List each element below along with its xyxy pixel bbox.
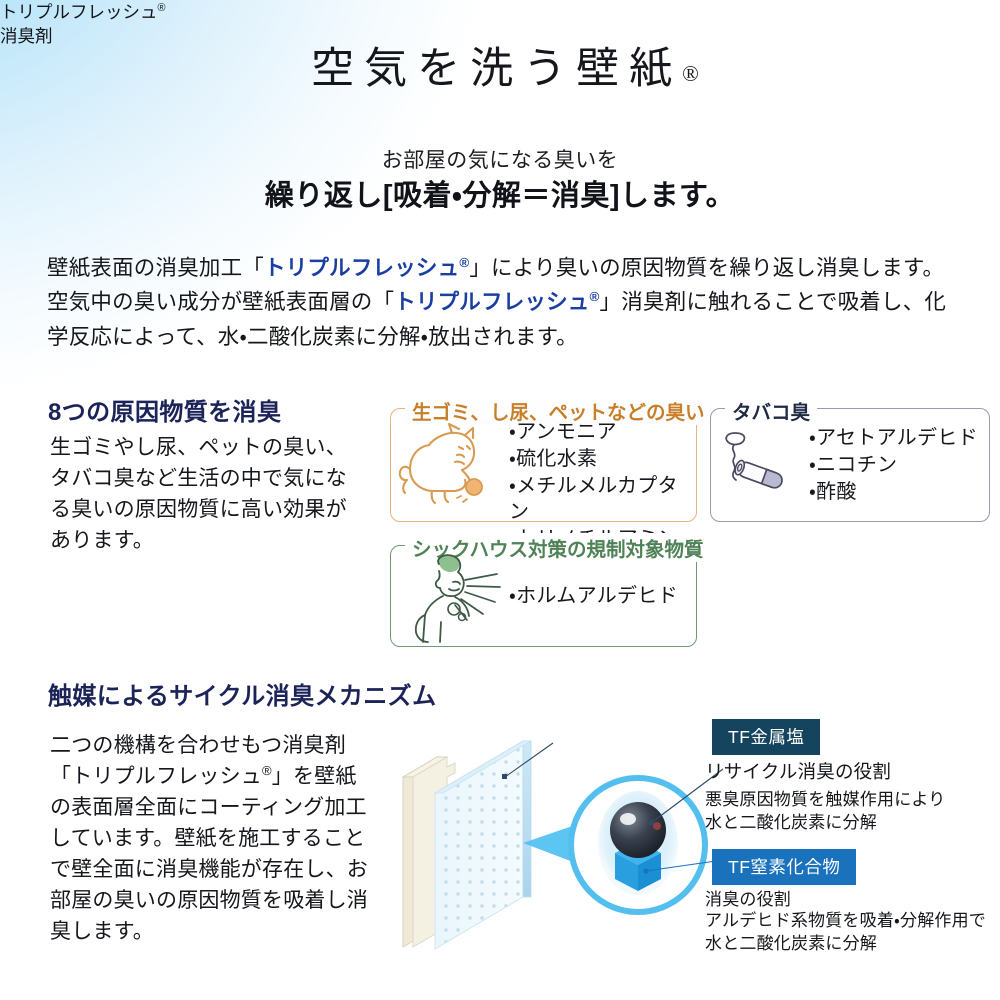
lead-headline: 繰り返し[吸着・分解＝消臭]します。 <box>0 172 1000 214</box>
brand-name-2-text: トリプルフレッシュ <box>394 290 589 314</box>
section-mechanism-text: 二つの機構を合わせもつ消臭剤「トリプルフレッシュ®」を壁紙の表面層全面にコーティ… <box>50 730 370 948</box>
odor-box-tobacco-list: アセトアルデヒド ニコチン 酢酸 <box>809 425 978 505</box>
tf-metal-salt-role: リサイクル消臭の役割 <box>705 760 891 785</box>
cat-icon <box>397 423 505 516</box>
badge-tf-nitrogen-compound: TF窒素化合物 <box>712 849 856 885</box>
list-item: 酢酸 <box>809 479 978 506</box>
cigarette-icon <box>719 425 805 508</box>
lead-subtitle: お部屋の気になる臭いを <box>0 144 1000 174</box>
odor-box-sickhouse-list: ホルムアルデヒド <box>509 583 678 610</box>
registered-mark-icon: ® <box>262 763 272 778</box>
registered-mark-icon: ® <box>459 254 469 269</box>
mechanism-text-part-2: 」を壁紙の表面層全面にコーティング加工しています。壁紙を施工することで壁全面に消… <box>50 765 368 943</box>
registered-mark-icon: ® <box>682 61 699 86</box>
odor-box-pet: 生ゴミ、し尿、ペットなどの臭い <box>390 408 697 522</box>
coughing-man-icon <box>405 552 509 651</box>
brand-name-1: トリプルフレッシュ® <box>264 256 469 280</box>
wallpaper-cross-section-diagram <box>395 735 725 970</box>
diagram-brand-label: トリプルフレッシュ® 消臭剤 <box>0 0 1000 48</box>
section-odor-text: 生ゴミやし尿、ペットの臭い、タバコ臭など生活の中で気になる臭いの原因物質に高い効… <box>50 432 355 556</box>
diagram-brand-line2: 消臭剤 <box>0 26 53 46</box>
badge-tf-metal-salt: TF金属塩 <box>712 719 820 755</box>
tf-metal-salt-description: 悪臭原因物質を触媒作用により 水と二酸化炭素に分解 <box>705 789 945 835</box>
registered-mark-icon: ® <box>158 2 166 14</box>
list-item: 硫化水素 <box>509 446 696 473</box>
list-item: アンモニア <box>509 419 696 446</box>
page-title: 空気を洗う壁紙® <box>0 48 1000 91</box>
list-item: ニコチン <box>809 452 978 479</box>
brand-name-1-text: トリプルフレッシュ <box>264 256 459 280</box>
tf-nitrogen-description: アルデヒド系物質を吸着・分解作用で 水と二酸化炭素に分解 <box>705 910 986 956</box>
list-item: ホルムアルデヒド <box>509 583 678 610</box>
intro-paragraph: 壁紙表面の消臭加工「トリプルフレッシュ®」により臭いの原因物質を繰り返し消臭しま… <box>47 251 953 355</box>
page-title-text: 空気を洗う壁紙 <box>311 46 682 93</box>
list-item: アセトアルデヒド <box>809 425 978 452</box>
intro-part-1: 壁紙表面の消臭加工「 <box>47 256 264 280</box>
list-item: メチルメルカプタン <box>509 473 696 527</box>
section-mechanism-heading: 触媒によるサイクル消臭メカニズム <box>48 676 436 711</box>
diagram-brand-line1: トリプルフレッシュ <box>0 2 158 22</box>
odor-box-sickhouse: シックハウス対策の規制対象物質 <box>390 545 697 647</box>
tf-metal-salt-sphere <box>610 802 666 858</box>
tf-nitrogen-role: 消臭の役割 <box>705 889 791 912</box>
infographic-page: 空気を洗う壁紙® お部屋の気になる臭いを 繰り返し[吸着・分解＝消臭]します。 … <box>0 0 1000 1000</box>
brand-name-2: トリプルフレッシュ® <box>394 290 599 314</box>
section-odor-heading: 8つの原因物質を消臭 <box>48 392 281 427</box>
registered-mark-icon: ® <box>590 289 600 304</box>
odor-box-tobacco-title: タバコ臭 <box>725 396 817 425</box>
odor-box-tobacco: タバコ臭 アセトアルデヒド ニコチン 酢酸 <box>710 408 990 522</box>
